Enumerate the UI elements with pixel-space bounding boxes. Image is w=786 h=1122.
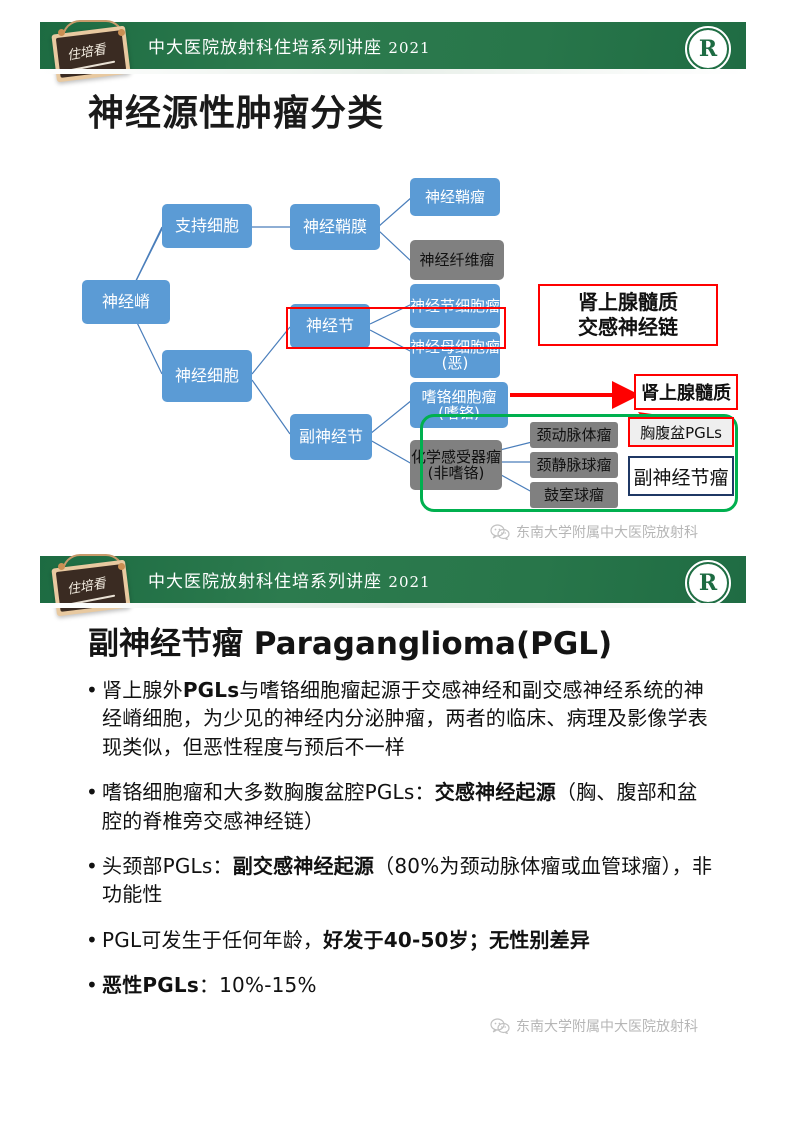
header-title: 中大医院放射科住培系列讲座 2021: [148, 33, 431, 58]
bullet-item: •肾上腺外PGLs与嗜铬细胞瘤起源于交感神经和副交感神经系统的神经嵴细胞，为少见…: [86, 676, 716, 761]
bullet-emphasis: 恶性PGLs: [102, 973, 199, 997]
node-paraganglion[interactable]: 副神经节: [290, 414, 372, 460]
bullet-item: •恶性PGLs：10%-15%: [86, 971, 716, 999]
header-title-text: 中大医院放射科住培系列讲座: [148, 38, 382, 58]
chalkboard-pin-right-2: [118, 563, 125, 570]
wechat-icon: [490, 524, 510, 540]
bullet-text: 肾上腺外PGLs与嗜铬细胞瘤起源于交感神经和副交感神经系统的神经嵴细胞，为少见的…: [102, 676, 716, 761]
bullet-list: •肾上腺外PGLs与嗜铬细胞瘤起源于交感神经和副交感神经系统的神经嵴细胞，为少见…: [86, 676, 716, 1017]
bullet-run: 头颈部PGLs：: [102, 854, 233, 878]
chalkboard-pin-left: [58, 29, 65, 36]
bullet-text: 恶性PGLs：10%-15%: [102, 971, 317, 999]
chalkboard-icon: 住培看: [48, 20, 134, 86]
node-nerve-cell[interactable]: 神经细胞: [162, 350, 252, 402]
node-nerve-sheath[interactable]: 神经鞘膜: [290, 204, 380, 250]
header-year-2: 2021: [388, 573, 430, 591]
page-title: 神经源性肿瘤分类: [88, 84, 384, 136]
logo-ring-2: R: [687, 562, 729, 604]
node-supporting-cell[interactable]: 支持细胞: [162, 204, 252, 248]
bullet-emphasis: 好发于40-50岁；无性别差异: [323, 928, 590, 952]
bullet-marker: •: [86, 971, 102, 999]
slide-header-banner: 住培看 中大医院放射科住培系列讲座 2021 R: [40, 22, 746, 70]
annotation-adrenal-medulla: 肾上腺髓质: [634, 374, 738, 410]
chalkboard-icon-2: 住培看: [48, 554, 134, 620]
bullet-marker: •: [86, 676, 102, 761]
bullet-run: PGL可发生于任何年龄，: [102, 928, 323, 952]
chalkboard-pin-left-2: [58, 563, 65, 570]
watermark-slide2: 东南大学附属中大医院放射科: [490, 1016, 698, 1036]
node-ganglion[interactable]: 神经节: [290, 304, 370, 348]
bullet-run: 肾上腺外: [102, 678, 183, 702]
bullet-run: ：10%-15%: [199, 973, 317, 997]
bullet-item: •PGL可发生于任何年龄，好发于40-50岁；无性别差异: [86, 926, 716, 954]
neurogenic-tumor-diagram: 神经嵴 支持细胞 神经鞘膜 神经鞘瘤 神经纤维瘤 神经细胞 神经节 神经节细胞瘤…: [40, 152, 746, 522]
logo-dotted-ring-2: [688, 563, 728, 603]
annotation-paraganglioma: 副神经节瘤: [628, 456, 734, 496]
node-ganglioneuroma[interactable]: 神经节细胞瘤: [410, 284, 500, 328]
chalkboard-surface: 住培看: [56, 30, 126, 78]
chalkboard-text: 住培看: [65, 38, 107, 63]
bullet-run: 嗜铬细胞瘤和大多数胸腹盆腔PGLs：: [102, 780, 435, 804]
bullet-text: 嗜铬细胞瘤和大多数胸腹盆腔PGLs：交感神经起源（胸、腹部和盆腔的脊椎旁交感神经…: [102, 778, 716, 835]
chalkboard-pin-right: [118, 29, 125, 36]
node-neurofibroma[interactable]: 神经纤维瘤: [410, 240, 504, 280]
hospital-logo-icon: R: [684, 25, 732, 73]
node-schwannoma[interactable]: 神经鞘瘤: [410, 178, 500, 216]
node-neuroblastoma[interactable]: 神经母细胞瘤 (恶): [410, 332, 500, 378]
annotation-sympathetic-chain-line2: 交感神经链: [578, 315, 678, 340]
header-title-text-2: 中大医院放射科住培系列讲座: [148, 572, 382, 592]
bullet-emphasis: 交感神经起源: [435, 780, 556, 804]
slide2-header-banner: 住培看 中大医院放射科住培系列讲座 2021 R: [40, 556, 746, 604]
bullet-text: 头颈部PGLs：副交感神经起源（80%为颈动脉体瘤或血管球瘤），非功能性: [102, 852, 716, 909]
bullet-marker: •: [86, 778, 102, 835]
bullet-marker: •: [86, 852, 102, 909]
watermark-text-2: 东南大学附属中大医院放射科: [516, 1016, 698, 1036]
bullet-item: •嗜铬细胞瘤和大多数胸腹盆腔PGLs：交感神经起源（胸、腹部和盆腔的脊椎旁交感神…: [86, 778, 716, 835]
slide-neurogenic-tumor-classification: 住培看 中大医院放射科住培系列讲座 2021 R 神经源性肿瘤分类: [40, 22, 746, 540]
page-title-2: 副神经节瘤 Paraganglioma(PGL): [88, 618, 612, 663]
bullet-marker: •: [86, 926, 102, 954]
annotation-adrenal-sympathetic: 肾上腺髓质 交感神经链: [538, 284, 718, 346]
annotation-adrenal-medulla-line1: 肾上腺髓质: [578, 290, 678, 315]
slide-paraganglioma-overview: 住培看 中大医院放射科住培系列讲座 2021 R 副神经节瘤 Paragangl…: [40, 556, 746, 1074]
bullet-text: PGL可发生于任何年龄，好发于40-50岁；无性别差异: [102, 926, 590, 954]
watermark-text: 东南大学附属中大医院放射科: [516, 522, 698, 542]
chalkboard-text-2: 住培看: [65, 572, 107, 597]
bullet-item: •头颈部PGLs：副交感神经起源（80%为颈动脉体瘤或血管球瘤），非功能性: [86, 852, 716, 909]
header-title-2: 中大医院放射科住培系列讲座 2021: [148, 567, 431, 592]
logo-ring: R: [687, 28, 729, 70]
bullet-emphasis: PGLs: [183, 678, 240, 702]
chalkboard-surface-2: 住培看: [56, 564, 126, 612]
header-year: 2021: [388, 39, 430, 57]
hospital-logo-icon-2: R: [684, 559, 732, 607]
logo-dotted-ring: [688, 29, 728, 69]
annotation-thoraco-abdo-pelvic-pgls: 胸腹盆PGLs: [628, 417, 734, 447]
wechat-icon-2: [490, 1018, 510, 1034]
bullet-emphasis: 副交感神经起源: [233, 854, 374, 878]
watermark-slide1: 东南大学附属中大医院放射科: [490, 522, 698, 542]
node-neural-crest[interactable]: 神经嵴: [82, 280, 170, 324]
